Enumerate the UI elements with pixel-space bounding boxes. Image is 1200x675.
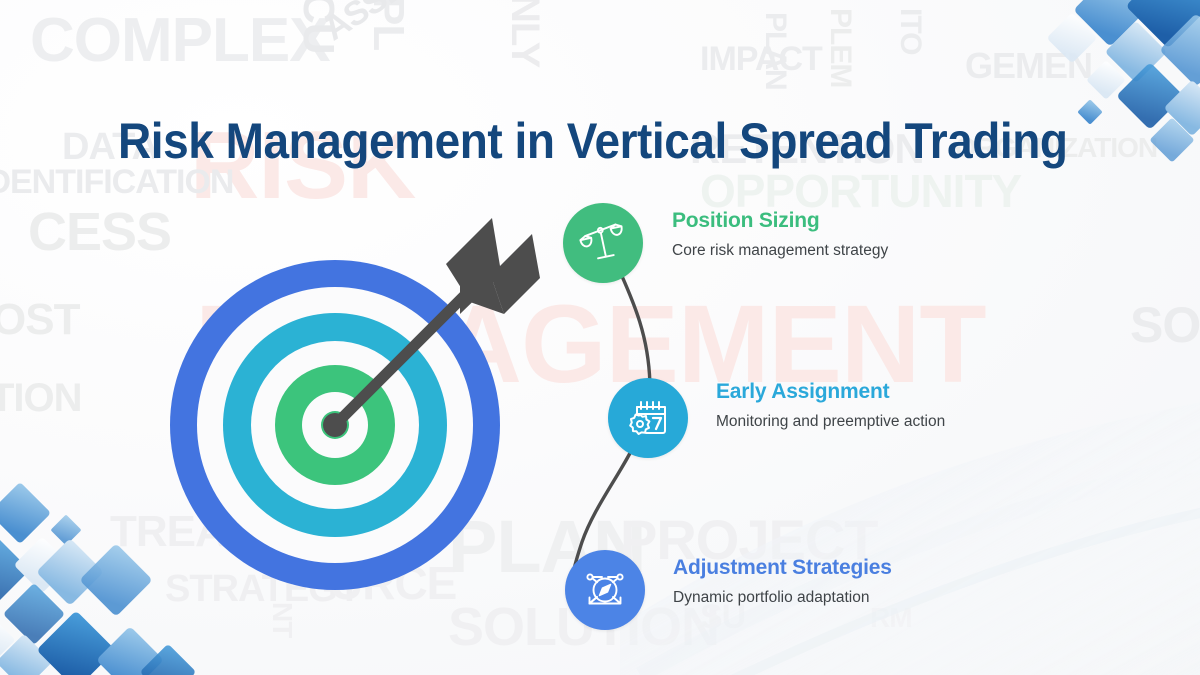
item-text-block: Position Sizing Core risk management str… [672,203,888,262]
calendar-gear-icon [624,394,672,442]
background-word: ASSESSMENT [318,0,525,47]
list-item[interactable]: Adjustment Strategies Dynamic portfolio … [565,550,892,630]
item-description: Monitoring and preemptive action [716,412,945,432]
background-word: COMPLEX [30,10,330,72]
item-badge-position-sizing [563,203,643,283]
background-word: OST [0,298,79,342]
diamond-cluster-top-right [1047,0,1200,163]
list-item[interactable]: Early Assignment Monitoring and preempti… [608,378,945,458]
item-badge-early-assignment [608,378,688,458]
background-word: IMPACT [700,42,822,76]
item-text-block: Early Assignment Monitoring and preempti… [716,378,945,433]
page-title: Risk Management in Vertical Spread Tradi… [118,112,1068,170]
background-word: NLY [505,0,545,67]
item-text-block: Adjustment Strategies Dynamic portfolio … [673,550,892,609]
item-title: Early Assignment [716,380,945,403]
target-with-arrow-graphic [160,190,580,610]
item-description: Core risk management strategy [672,241,888,261]
background-word: SO [1130,300,1200,350]
background-word: PL [366,0,410,50]
background-word: TION [0,378,82,418]
item-description: Dynamic portfolio adaptation [673,588,892,608]
background-word: PLEM [825,8,855,87]
balance-scales-icon [579,219,627,267]
compass-expand-icon [580,565,630,615]
background-word: CU [296,0,340,54]
background-word: CESS [28,205,171,259]
list-item[interactable]: Position Sizing Core risk management str… [563,203,888,283]
item-title: Position Sizing [672,209,888,232]
item-title: Adjustment Strategies [673,556,892,579]
background-word: GEMEN [965,48,1092,84]
background-word: ITO [895,8,925,54]
background-word: PLAN [760,12,790,90]
slide-canvas: COMPLEXCUPLASSESSMENTNLYPLANPLEMITOIMPAC… [0,0,1200,675]
item-badge-adjustment-strategies [565,550,645,630]
